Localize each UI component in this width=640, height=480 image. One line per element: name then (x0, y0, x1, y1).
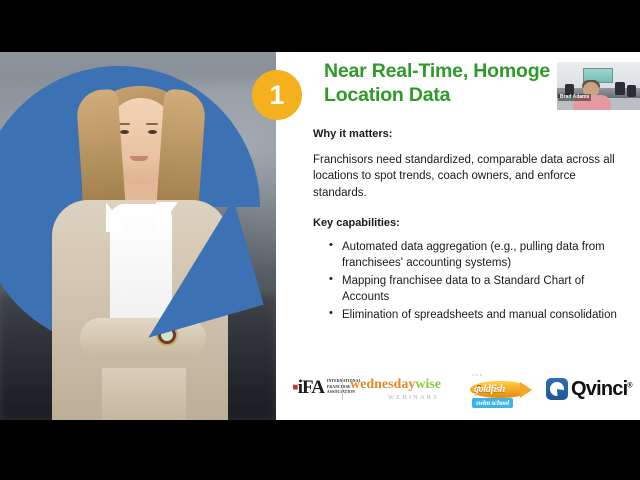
goldfish-bubbles-icon: °°° (472, 374, 483, 381)
webcam-chair (615, 82, 625, 95)
list-item: Mapping franchisee data to a Standard Ch… (329, 273, 625, 305)
slide-body: Why it matters: Franchisors need standar… (313, 128, 625, 325)
wednesdaywise-part-1: wednesday (350, 377, 415, 392)
webcam-chair (627, 85, 636, 97)
webcam-pip-video[interactable]: Brad Adams (557, 62, 640, 110)
portrait-eye-right (148, 130, 157, 134)
logo-divider (342, 378, 343, 400)
presentation-slide: 1 Near Real-Time, Homoge Location Data W… (0, 52, 640, 420)
portrait-brow-right (146, 123, 158, 125)
ifa-wordmark: ▪iFA (292, 378, 324, 397)
webcam-participant-name: Brad Adams (558, 94, 591, 101)
qvinci-logo: Qvinci® (546, 378, 632, 400)
portrait-skirt (102, 368, 186, 420)
qvinci-wordmark-text: Qvinci (571, 378, 627, 400)
key-capabilities-label: Key capabilities: (313, 217, 625, 229)
key-capabilities-list: Automated data aggregation (e.g., pullin… (313, 239, 625, 323)
portrait-mouth (130, 156, 148, 161)
video-player-stage: 1 Near Real-Time, Homoge Location Data W… (0, 0, 640, 480)
sponsor-logo-strip: ▪iFA INTERNATIONAL FRANCHISE ASSOCIATION… (276, 374, 640, 414)
wednesdaywise-wordmark: wednesdaywise (350, 378, 441, 392)
wednesdaywise-subtitle: WEBINARS (350, 394, 441, 401)
ifa-mark-text: iFA (298, 377, 324, 398)
wednesdaywise-part-2: wise (415, 377, 441, 392)
slide-photo-panel (0, 52, 276, 420)
portrait-collar-left (106, 202, 128, 232)
goldfish-tail-icon (520, 382, 532, 398)
why-it-matters-text: Franchisors need standardized, comparabl… (313, 152, 625, 201)
why-it-matters-label: Why it matters: (313, 128, 625, 140)
list-item: Automated data aggregation (e.g., pullin… (329, 239, 625, 271)
qvinci-registered-icon: ® (627, 382, 631, 389)
goldfish-swim-school-logo: °°° goldfish swim school (466, 374, 538, 410)
goldfish-subtitle: swim school (472, 398, 513, 408)
wednesdaywise-logo: wednesdaywise WEBINARS (350, 378, 441, 401)
portrait-eye-left (120, 130, 129, 134)
slide-number-badge: 1 (252, 70, 302, 120)
goldfish-wordmark: goldfish (474, 384, 505, 395)
qvinci-wordmark: Qvinci® (571, 379, 632, 399)
qvinci-mark-icon (546, 378, 568, 400)
list-item: Elimination of spreadsheets and manual c… (329, 307, 625, 323)
